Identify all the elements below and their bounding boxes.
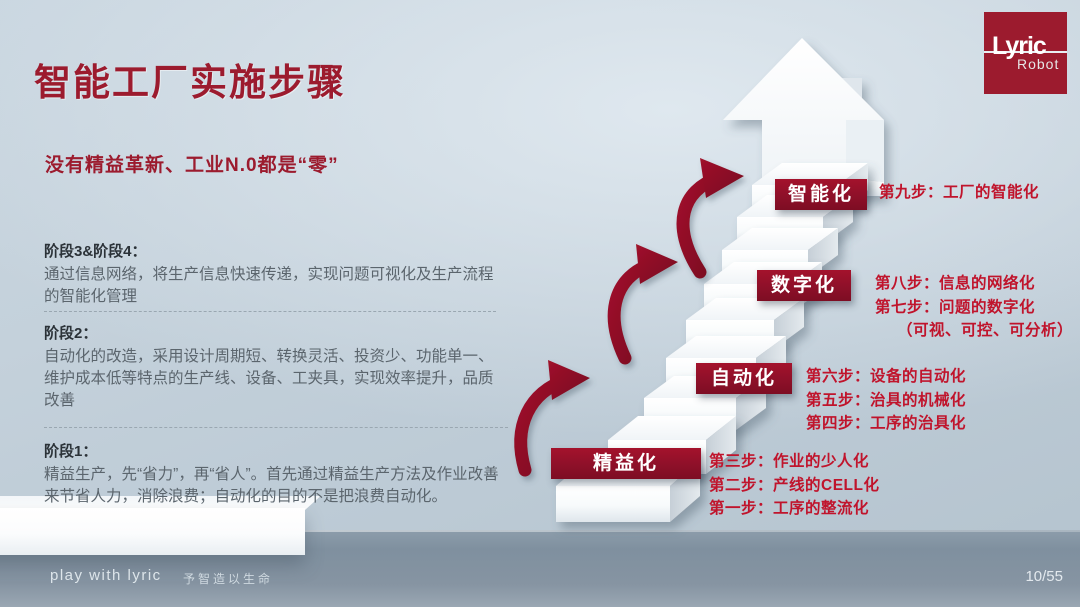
- step-list-intelligent: 第九步：工厂的智能化: [879, 181, 1039, 205]
- step-item: 第九步：工厂的智能化: [879, 181, 1039, 205]
- stage-heading: 阶段1：: [44, 440, 514, 461]
- stage-block-1: 阶段1： 精益生产，先“省力”，再“省人”。首先通过精益生产方法及作业改善来节省…: [44, 440, 514, 508]
- step-item: 第八步：信息的网络化: [875, 272, 1073, 296]
- stage-body: 自动化的改造，采用设计周期短、转换灵活、投资少、功能单一、维护成本低等特点的生产…: [44, 346, 496, 412]
- step-item: 第三步：作业的少人化: [709, 450, 879, 474]
- stage-heading: 阶段2：: [44, 322, 496, 343]
- page-title: 智能工厂实施步骤: [34, 52, 346, 106]
- floor-platform: [0, 508, 305, 555]
- tier-tag-automation[interactable]: 自动化: [696, 363, 792, 394]
- footer-tagline-cn: 予智造以生命: [183, 570, 273, 587]
- stage-body: 精益生产，先“省力”，再“省人”。首先通过精益生产方法及作业改善来节省人力，消除…: [44, 464, 514, 508]
- step-item: 第七步：问题的数字化: [875, 296, 1073, 320]
- tier-tag-lean[interactable]: 精益化: [551, 448, 701, 479]
- logo-subname: Robot: [1017, 56, 1059, 72]
- step-list-lean: 第三步：作业的少人化 第二步：产线的CELL化 第一步：工序的整流化: [709, 450, 879, 521]
- step-item: 第五步：治具的机械化: [806, 389, 966, 413]
- step-list-digital: 第八步：信息的网络化 第七步：问题的数字化 （可视、可控、可分析）: [875, 272, 1073, 343]
- page-subtitle: 没有精益革新、工业N.0都是“零”: [45, 150, 339, 177]
- stage-block-3-4: 阶段3&阶段4： 通过信息网络，将生产信息快速传递，实现问题可视化及生产流程的智…: [44, 240, 496, 308]
- footer-tagline: play with lyric: [50, 567, 162, 584]
- step-item: 第六步：设备的自动化: [806, 365, 966, 389]
- page-number: 10/55: [1025, 568, 1063, 585]
- stage-body: 通过信息网络，将生产信息快速传递，实现问题可视化及生产流程的智能化管理: [44, 264, 496, 308]
- tier-tag-digital[interactable]: 数字化: [757, 270, 851, 301]
- progress-arrow-middle: [614, 244, 678, 358]
- step-item: 第一步：工序的整流化: [709, 497, 879, 521]
- stage-block-2: 阶段2： 自动化的改造，采用设计周期短、转换灵活、投资少、功能单一、维护成本低等…: [44, 322, 496, 412]
- step-item: 第二步：产线的CELL化: [709, 474, 879, 498]
- step-list-automation: 第六步：设备的自动化 第五步：治具的机械化 第四步：工序的治具化: [806, 365, 966, 436]
- stage-divider: [44, 311, 496, 312]
- stage-heading: 阶段3&阶段4：: [44, 240, 496, 261]
- lyric-robot-logo: Lyric Robot: [984, 12, 1067, 94]
- tier-tag-intelligent[interactable]: 智能化: [775, 179, 867, 210]
- step-item: 第四步：工序的治具化: [806, 412, 966, 436]
- stage-divider: [44, 427, 508, 428]
- step-item-note: （可视、可控、可分析）: [875, 319, 1073, 343]
- slide-canvas: 智能工厂实施步骤 没有精益革新、工业N.0都是“零” 阶段3&阶段4： 通过信息…: [0, 0, 1080, 607]
